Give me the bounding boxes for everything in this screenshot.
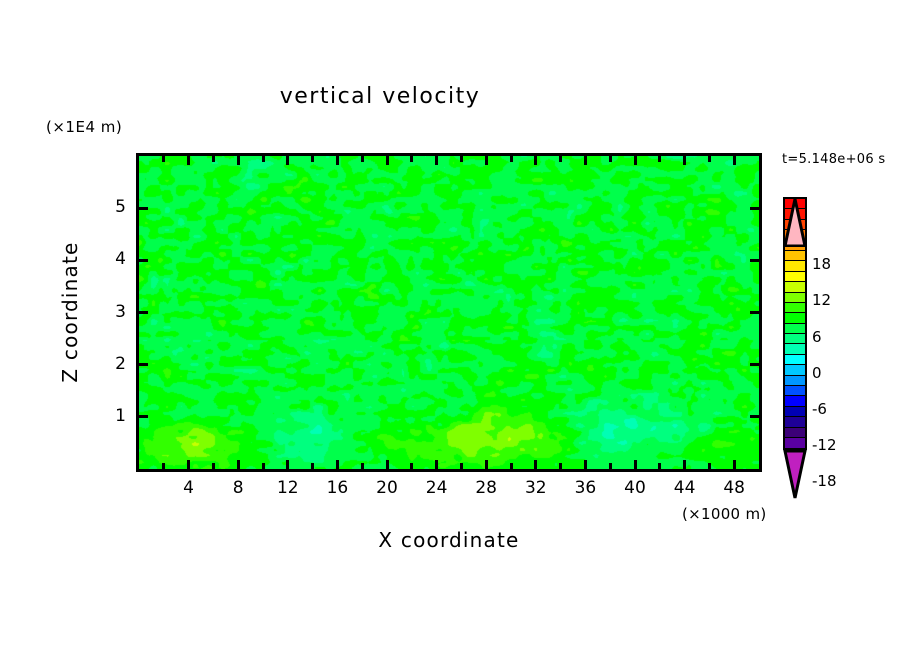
colorbar-cell <box>785 313 805 323</box>
x-axis-minor-tick <box>510 463 513 469</box>
y-axis-tick <box>139 415 148 418</box>
colorbar-cell <box>785 272 805 282</box>
colorbar[interactable] <box>783 197 807 450</box>
x-axis-tick <box>237 460 240 469</box>
x-axis-tick <box>286 156 289 165</box>
x-axis-tick <box>435 460 438 469</box>
x-tick-label: 24 <box>412 478 462 498</box>
y-axis-tick <box>750 259 759 262</box>
x-axis-tick <box>634 156 637 165</box>
colorbar-cell <box>785 428 805 438</box>
x-axis-minor-tick <box>162 463 165 469</box>
colorbar-tick-label: 18 <box>812 255 831 273</box>
y-tick-label: 1 <box>96 406 126 426</box>
y-axis-title: Z coordinate <box>58 182 82 442</box>
timestamp-label: t=5.148e+06 s <box>782 152 885 167</box>
x-tick-label: 32 <box>511 478 561 498</box>
x-axis-minor-tick <box>311 156 314 162</box>
y-tick-label: 2 <box>96 354 126 374</box>
colorbar-cell <box>785 417 805 427</box>
x-axis-minor-tick <box>510 156 513 162</box>
colorbar-tick-label: 0 <box>812 364 822 382</box>
colorbar-cell <box>785 344 805 354</box>
x-axis-tick <box>733 156 736 165</box>
x-axis-minor-tick <box>460 156 463 162</box>
colorbar-cell <box>785 282 805 292</box>
x-axis-tick <box>683 460 686 469</box>
colorbar-tick-label: -12 <box>812 436 837 454</box>
x-axis-tick <box>386 460 389 469</box>
x-axis-minor-tick <box>460 463 463 469</box>
x-tick-label: 12 <box>263 478 313 498</box>
x-axis-tick <box>286 460 289 469</box>
colorbar-cell <box>785 407 805 417</box>
x-axis-tick <box>187 156 190 165</box>
x-axis-minor-tick <box>212 156 215 162</box>
colorbar-tick-label: -6 <box>812 400 827 418</box>
x-tick-label: 16 <box>312 478 362 498</box>
x-axis-tick <box>336 460 339 469</box>
x-tick-label: 28 <box>461 478 511 498</box>
x-axis-minor-tick <box>212 463 215 469</box>
x-axis-tick <box>683 156 686 165</box>
x-tick-label: 4 <box>164 478 214 498</box>
x-axis-tick <box>386 156 389 165</box>
y-tick-label: 5 <box>96 197 126 217</box>
x-tick-label: 20 <box>362 478 412 498</box>
x-axis-minor-tick <box>410 156 413 162</box>
colorbar-cell <box>785 396 805 406</box>
x-axis-minor-tick <box>708 156 711 162</box>
colorbar-tick-label: 12 <box>812 291 831 309</box>
x-axis-minor-tick <box>559 156 562 162</box>
x-axis-minor-tick <box>559 463 562 469</box>
x-axis-tick <box>584 156 587 165</box>
x-axis-tick <box>187 460 190 469</box>
colorbar-cell <box>785 355 805 365</box>
colorbar-cell <box>785 438 805 448</box>
x-tick-label: 40 <box>610 478 660 498</box>
y-axis-tick <box>139 207 148 210</box>
colorbar-cell <box>785 293 805 303</box>
colorbar-cell <box>785 386 805 396</box>
x-axis-minor-tick <box>162 156 165 162</box>
x-axis-tick <box>485 156 488 165</box>
x-tick-label: 8 <box>213 478 263 498</box>
y-axis-tick <box>750 311 759 314</box>
y-tick-label: 4 <box>96 249 126 269</box>
y-axis-tick <box>139 259 148 262</box>
x-axis-tick <box>237 156 240 165</box>
colorbar-cell <box>785 303 805 313</box>
x-tick-label: 36 <box>560 478 610 498</box>
x-axis-tick <box>534 156 537 165</box>
colorbar-cell <box>785 261 805 271</box>
x-axis-minor-tick <box>658 463 661 469</box>
x-axis-minor-tick <box>609 156 612 162</box>
vertical-velocity-field <box>139 156 759 469</box>
colorbar-cell <box>785 334 805 344</box>
y-axis-tick <box>750 415 759 418</box>
contour-plot-area[interactable] <box>136 153 762 472</box>
y-axis-tick <box>139 311 148 314</box>
x-axis-tick <box>534 460 537 469</box>
x-axis-title: X coordinate <box>136 528 762 552</box>
x-axis-tick <box>584 460 587 469</box>
x-axis-tick <box>634 460 637 469</box>
x-axis-minor-tick <box>708 463 711 469</box>
x-axis-minor-tick <box>311 463 314 469</box>
colorbar-cell <box>785 324 805 334</box>
x-tick-label: 48 <box>709 478 759 498</box>
colorbar-tick-label: -18 <box>812 472 837 490</box>
x-axis-minor-tick <box>410 463 413 469</box>
x-tick-label: 44 <box>660 478 710 498</box>
x-axis-minor-tick <box>262 156 265 162</box>
x-axis-unit-label: (×1000 m) <box>682 505 767 523</box>
colorbar-cell <box>785 251 805 261</box>
y-axis-tick <box>750 207 759 210</box>
x-axis-tick <box>435 156 438 165</box>
colorbar-tick-label: 6 <box>812 328 822 346</box>
colorbar-cell <box>785 365 805 375</box>
y-tick-label: 3 <box>96 302 126 322</box>
x-axis-minor-tick <box>609 463 612 469</box>
x-axis-tick <box>336 156 339 165</box>
x-axis-minor-tick <box>262 463 265 469</box>
x-axis-tick <box>733 460 736 469</box>
x-axis-minor-tick <box>658 156 661 162</box>
y-axis-unit-label: (×1E4 m) <box>46 118 122 136</box>
colorbar-cell <box>785 376 805 386</box>
y-axis-tick <box>139 363 148 366</box>
y-axis-tick <box>750 363 759 366</box>
x-axis-tick <box>485 460 488 469</box>
page-title: vertical velocity <box>0 84 760 109</box>
x-axis-minor-tick <box>361 156 364 162</box>
x-axis-minor-tick <box>361 463 364 469</box>
